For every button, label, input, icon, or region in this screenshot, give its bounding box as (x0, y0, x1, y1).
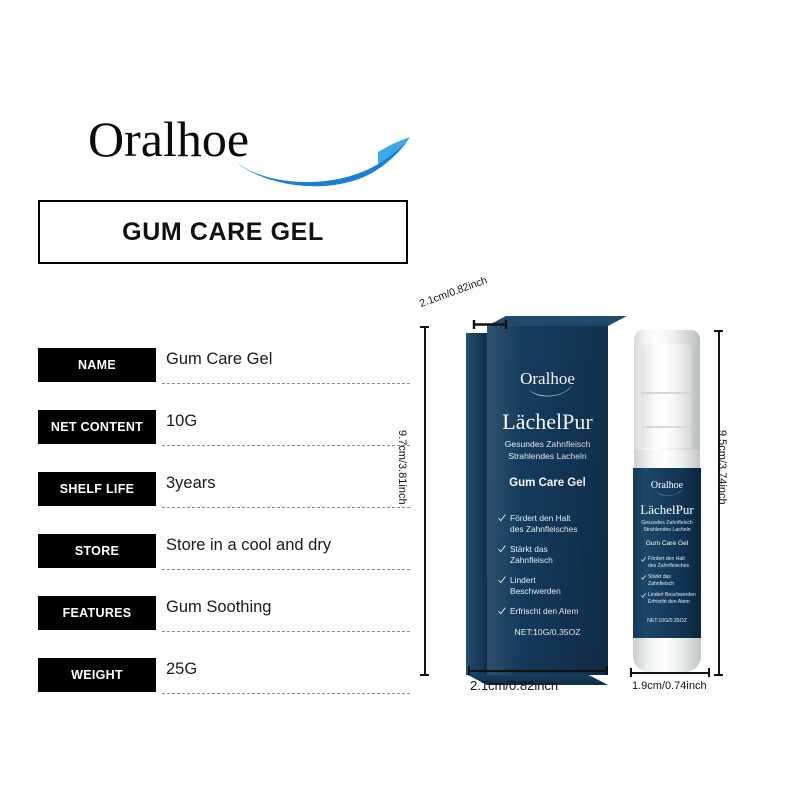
table-row: NAME Gum Care Gel (38, 348, 408, 410)
dimension-carton-height-cap-top (420, 326, 429, 328)
bottle-tagline: Gesundes Zahnfleisch Strahlendes Lacheln (633, 520, 701, 534)
product-bottle: Oralhoe LächelPur Gesundes Zahnfleisch S… (624, 330, 710, 678)
spec-key: WEIGHT (38, 658, 156, 692)
table-row: NET CONTENT 10G (38, 410, 408, 472)
dimension-bottle-width: 1.9cm/0.74inch (632, 680, 707, 692)
bottle-tagline-line2: Strahlendes Lacheln (633, 527, 701, 534)
dimension-carton-width-cap-left (468, 666, 470, 675)
page-title: GUM CARE GEL (122, 218, 324, 247)
row-divider (162, 383, 410, 384)
dimension-carton-depth: 2.1cm/0.82inch (418, 274, 489, 310)
list-item: Stärkt dasZahnfleisch (641, 574, 699, 587)
bottle-pump-seam-upper (641, 392, 691, 394)
dimension-bottle-width-cap-left (630, 668, 632, 677)
row-divider (162, 631, 410, 632)
table-row: FEATURES Gum Soothing (38, 596, 408, 658)
list-item-label: Lindert BeschwerdenErfrischt den Atem (648, 592, 696, 605)
list-item: Fördert den Haltdes Zahnfleisches (641, 556, 699, 569)
list-item-label: Fördert den Haltdes Zahnfleisches (648, 556, 689, 569)
carton-benefit-list: Fördert den Haltdes Zahnfleisches Stärkt… (498, 513, 602, 627)
row-divider (162, 445, 410, 446)
carton-side-panel (466, 333, 488, 675)
page-title-box: GUM CARE GEL (38, 200, 408, 264)
list-item: Stärkt dasZahnfleisch (498, 544, 602, 565)
dimension-bottle-height: 9.5cm/3.74inch (716, 430, 728, 505)
check-icon (498, 576, 506, 584)
dimension-carton-height-line (424, 326, 426, 676)
list-item-label: Fördert den Haltdes Zahnfleisches (510, 513, 578, 534)
list-item: Fördert den Haltdes Zahnfleisches (498, 513, 602, 534)
bottle-base (633, 638, 701, 672)
list-item-label: LindertBeschwerden (510, 575, 561, 596)
spec-value: 10G (166, 412, 410, 431)
check-icon (641, 575, 646, 580)
row-divider (162, 693, 410, 694)
carton-tagline: Gesundes Zahnfleisch Strahlendes Lacheln (487, 439, 608, 462)
product-carton: Oralhoe LächelPur Gesundes Zahnfleisch S… (466, 325, 608, 675)
dimension-carton-width-cap-right (606, 666, 608, 675)
bottle-subtitle: Gum Care Gel (633, 540, 701, 547)
spec-key: STORE (38, 534, 156, 568)
list-item-label: Stärkt dasZahnfleisch (510, 544, 553, 565)
check-icon (498, 545, 506, 553)
list-item: Lindert BeschwerdenErfrischt den Atem (641, 592, 699, 605)
row-divider (162, 569, 410, 570)
list-item: Erfrischt den Atem (498, 606, 602, 617)
spec-value: 3years (166, 474, 410, 493)
dimension-bottle-height-cap-bottom (714, 674, 723, 676)
table-row: SHELF LIFE 3years (38, 472, 408, 534)
brand-logo: Oralhoe (88, 108, 388, 178)
spec-key: NET CONTENT (38, 410, 156, 444)
dimension-bottle-width-cap-right (708, 668, 710, 677)
bottle-swoosh-icon (656, 489, 682, 497)
product-scene: Oralhoe LächelPur Gesundes Zahnfleisch S… (410, 290, 790, 710)
bottle-tagline-line1: Gesundes Zahnfleisch (633, 520, 701, 527)
check-icon (641, 593, 646, 598)
bottle-benefit-list: Fördert den Haltdes Zahnfleisches Stärkt… (641, 556, 699, 611)
spec-key: FEATURES (38, 596, 156, 630)
spec-table: NAME Gum Care Gel NET CONTENT 10G SHELF … (38, 348, 408, 720)
spec-value: Gum Care Gel (166, 350, 410, 369)
spec-value: Gum Soothing (166, 598, 410, 617)
bottle-pump (641, 344, 691, 448)
swoosh-icon (228, 134, 418, 190)
dimension-carton-height-cap-bottom (420, 674, 429, 676)
carton-tagline-line2: Strahlendes Lacheln (487, 451, 608, 463)
spec-key: SHELF LIFE (38, 472, 156, 506)
check-icon (498, 514, 506, 522)
carton-product-name: LächelPur (487, 409, 608, 435)
product-infographic: Oralhoe GUM CARE GEL NAME Gum Care Gel N… (0, 0, 800, 800)
carton-swoosh-icon (528, 385, 572, 399)
list-item-label: Erfrischt den Atem (510, 606, 578, 616)
carton-subtitle: Gum Care Gel (487, 477, 608, 489)
carton-tagline-line1: Gesundes Zahnfleisch (487, 439, 608, 451)
table-row: WEIGHT 25G (38, 658, 408, 720)
dimension-carton-width: 2.1cm/0.82inch (470, 678, 558, 693)
list-item-label: Stärkt dasZahnfleisch (648, 574, 674, 587)
bottle-pump-seam-lower (641, 426, 691, 428)
bottle-product-name: LächelPur (633, 502, 701, 518)
dimension-carton-height: 9.7cm/3.81inch (396, 430, 408, 505)
check-icon (641, 557, 646, 562)
dimension-depth-arrow (472, 318, 508, 332)
row-divider (162, 507, 410, 508)
check-icon (498, 607, 506, 615)
table-row: STORE Store in a cool and dry (38, 534, 408, 596)
dimension-carton-width-line (468, 670, 608, 672)
dimension-bottle-height-cap-top (714, 330, 723, 332)
spec-key: NAME (38, 348, 156, 382)
dimension-bottle-width-line (630, 672, 710, 674)
list-item: LindertBeschwerden (498, 575, 602, 596)
carton-net-content: NET:10G/0.35OZ (487, 627, 608, 637)
spec-value: 25G (166, 660, 410, 679)
spec-value: Store in a cool and dry (166, 536, 410, 555)
bottle-net-content: NET:10G/0.35OZ (633, 618, 701, 624)
